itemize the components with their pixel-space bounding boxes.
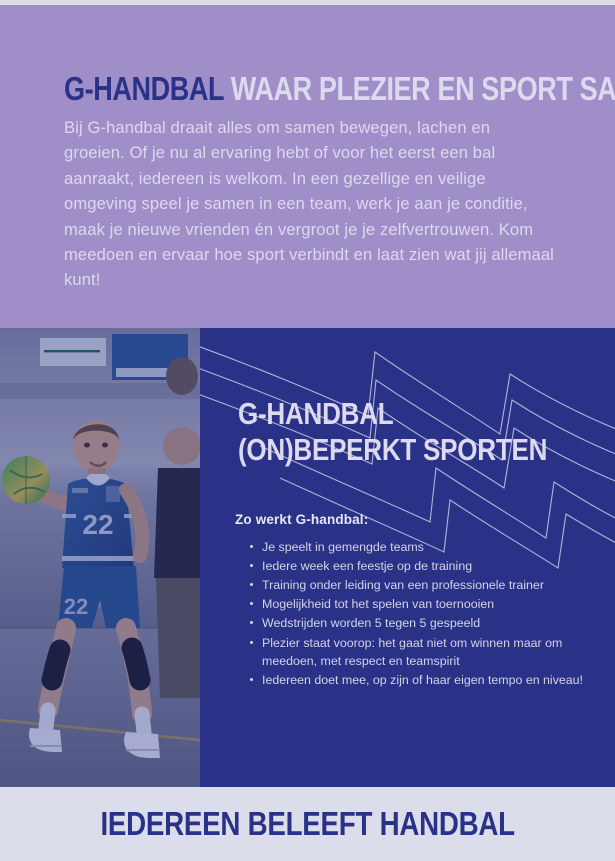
features-list: Je speelt in gemengde teams Iedere week … bbox=[248, 538, 593, 690]
intro-heading: G-HANDBAL WAAR PLEZIER EN SPORT SAMENKOM… bbox=[64, 72, 490, 105]
list-item: Wedstrijden worden 5 tegen 5 gespeeld bbox=[248, 614, 593, 632]
intro-section: G-HANDBAL WAAR PLEZIER EN SPORT SAMENKOM… bbox=[0, 5, 615, 328]
list-item: Iedere week een feestje op de training bbox=[248, 557, 593, 575]
middle-section: 22 22 bbox=[0, 328, 615, 787]
photo-color-tint bbox=[0, 328, 200, 787]
middle-title-line1: G-HANDBAL bbox=[238, 396, 393, 431]
handball-player-photo: 22 22 bbox=[0, 328, 200, 787]
middle-title-line2: (ON)BEPERKT SPORTEN bbox=[238, 432, 547, 467]
list-item: Mogelijkheid tot het spelen van toernooi… bbox=[248, 595, 593, 613]
list-heading: Zo werkt G-handbal: bbox=[235, 512, 368, 527]
banner-text: IEDEREEN BELEEFT HANDBAL bbox=[100, 805, 514, 843]
intro-body-text: Bij G-handbal draait alles om samen bewe… bbox=[64, 115, 554, 293]
list-item: Plezier staat voorop: het gaat niet om w… bbox=[248, 634, 593, 670]
list-item: Je speelt in gemengde teams bbox=[248, 538, 593, 556]
list-item: Iedereen doet mee, op zijn of haar eigen… bbox=[248, 671, 593, 689]
intro-brand: G-HANDBAL bbox=[64, 70, 224, 107]
bottom-banner: IEDEREEN BELEEFT HANDBAL bbox=[0, 787, 615, 861]
list-item: Training onder leiding van een professio… bbox=[248, 576, 593, 594]
poster: G-HANDBAL WAAR PLEZIER EN SPORT SAMENKOM… bbox=[0, 0, 615, 861]
intro-tagline: WAAR PLEZIER EN SPORT SAMENKOMEN bbox=[231, 70, 615, 107]
middle-title: G-HANDBAL (ON)BEPERKT SPORTEN bbox=[238, 396, 540, 468]
